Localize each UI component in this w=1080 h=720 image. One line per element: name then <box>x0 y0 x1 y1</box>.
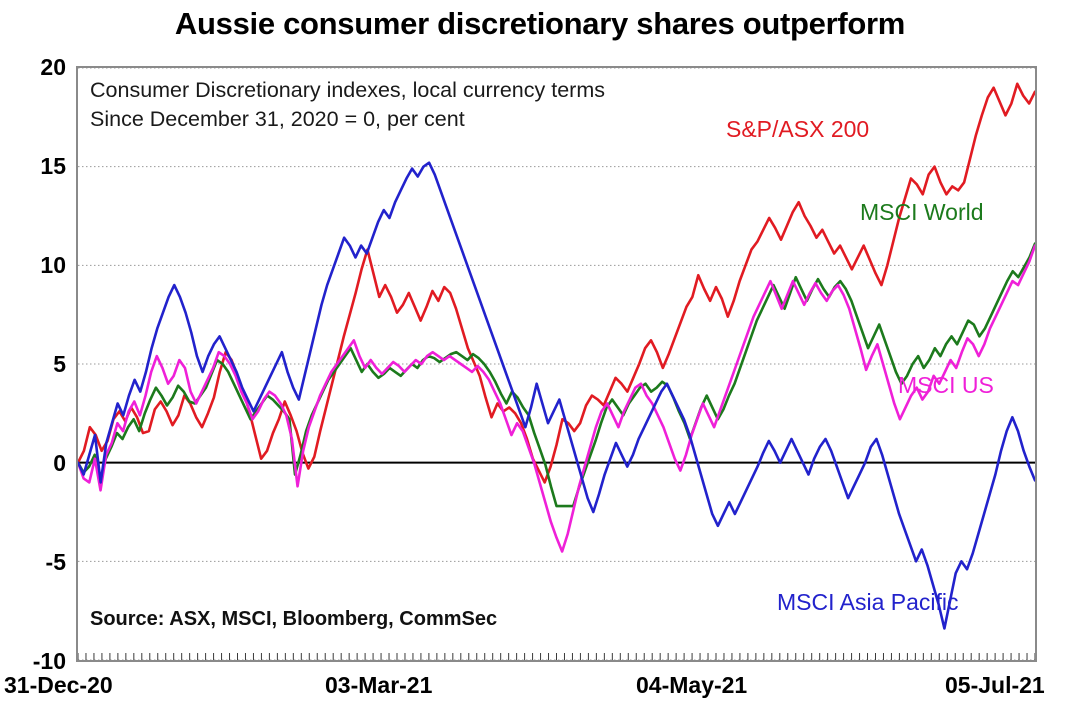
series-label-msci-asia-pacific: MSCI Asia Pacific <box>777 589 959 616</box>
series-line-s-p-asx-200 <box>78 84 1035 483</box>
x-axis-tick-31-dec-20: 31-Dec-20 <box>4 672 113 699</box>
series-label-sp-asx-200: S&P/ASX 200 <box>726 116 869 143</box>
y-axis-tick-10: 10 <box>0 252 66 279</box>
source-note: Source: ASX, MSCI, Bloomberg, CommSec <box>90 608 497 631</box>
x-axis-tick-03-mar-21: 03-Mar-21 <box>325 672 432 699</box>
y-axis-tick-0: 0 <box>0 450 66 477</box>
series-label-msci-world: MSCI World <box>860 199 984 226</box>
x-axis-tick-04-may-21: 04-May-21 <box>636 672 747 699</box>
series-line-msci-world <box>78 244 1035 506</box>
subtitle-line-2: Since December 31, 2020 = 0, per cent <box>90 107 465 132</box>
y-axis-tick-5: 5 <box>0 351 66 378</box>
series-label-msci-us: MSCI US <box>898 372 994 399</box>
y-axis-tick-neg10: -10 <box>0 648 66 675</box>
subtitle-line-1: Consumer Discretionary indexes, local cu… <box>90 78 605 103</box>
y-axis-tick-20: 20 <box>0 54 66 81</box>
plot-canvas <box>78 68 1035 660</box>
chart-title: Aussie consumer discretionary shares out… <box>0 6 1080 42</box>
y-axis-tick-15: 15 <box>0 153 66 180</box>
y-axis-tick-neg5: -5 <box>0 549 66 576</box>
x-axis-tick-05-jul-21: 05-Jul-21 <box>945 672 1045 699</box>
plot-area <box>76 66 1037 662</box>
